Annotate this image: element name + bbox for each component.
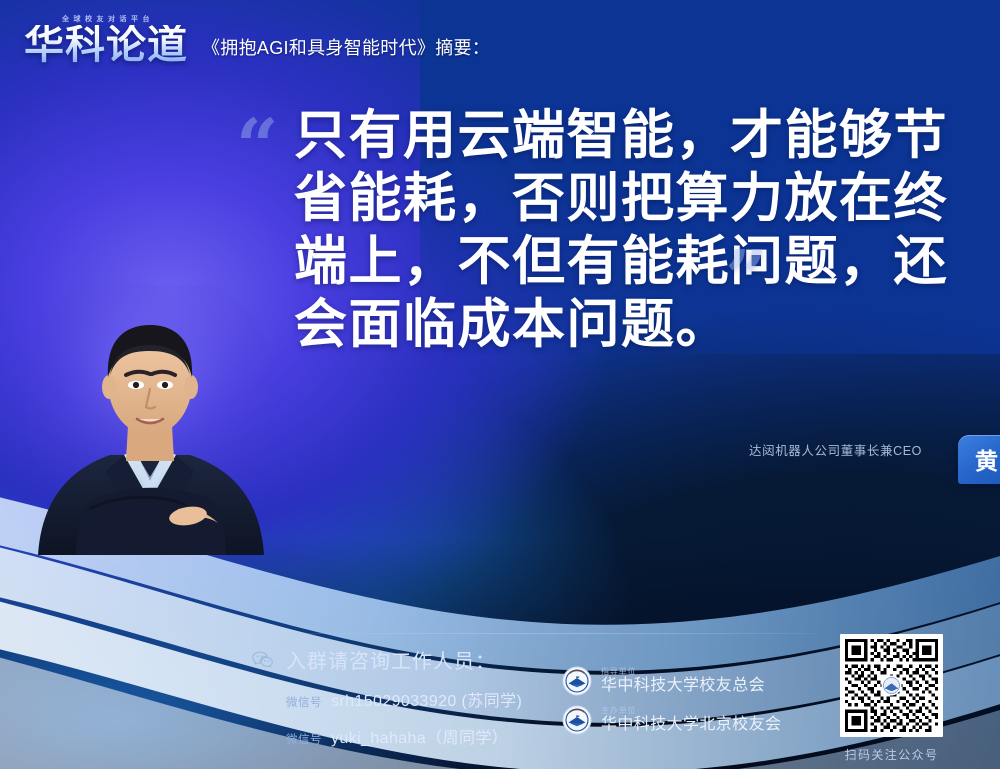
quote-line: 只有用云端智能，才能够节	[294, 104, 954, 167]
header: 全球校友对话平台 华科论道 《拥抱AGI和具身智能时代》摘要：	[24, 14, 490, 65]
organizer-kind: 主办单位	[601, 707, 781, 715]
header-subtitle: 《拥抱AGI和具身智能时代》摘要：	[202, 34, 490, 65]
contact-label: 微信号	[286, 694, 322, 710]
qr-section: 扫码关注公众号	[840, 634, 943, 763]
quote-lines: 只有用云端智能，才能够节 省能耗，否则把算力放在终 端上，不但有能耗问题，还 会…	[294, 104, 954, 356]
quote-line: 省能耗，否则把算力放在终	[294, 167, 954, 230]
contact-label: 微信号	[286, 731, 322, 747]
organizer-text: 主办单位 华中科技大学北京校友会	[601, 707, 781, 733]
contact-value[interactable]: yuki_hahaha（周同学）	[331, 724, 508, 748]
organizer-text: 指导单位 华中科技大学校友总会	[601, 668, 765, 694]
speaker-name-badge: 黄晓庆	[958, 435, 1000, 484]
footer-contact: 入群请咨询工作人员： 微信号 srh15029033920 (苏同学) 微信号 …	[252, 645, 522, 748]
footer-divider	[285, 633, 815, 634]
contact-row: 微信号 srh15029033920 (苏同学)	[286, 687, 522, 711]
hust-seal-icon	[562, 666, 592, 696]
organizer-row: 主办单位 华中科技大学北京校友会	[562, 705, 781, 735]
qr-caption: 扫码关注公众号	[840, 746, 943, 763]
organizer-name: 华中科技大学校友总会	[601, 678, 765, 694]
contact-value[interactable]: srh15029033920 (苏同学)	[331, 687, 522, 711]
attribution: 达闼机器人公司董事长兼CEO 黄晓庆	[749, 440, 922, 459]
footer-heading: 入群请咨询工作人员：	[252, 645, 522, 674]
hust-seal-icon	[562, 705, 592, 735]
qr-code[interactable]	[840, 634, 943, 737]
quote-line-text: 会面临成本问题。	[294, 294, 730, 355]
logo-title: 华科论道	[24, 25, 188, 65]
speaker-role: 达闼机器人公司董事长兼CEO	[749, 440, 922, 459]
footer-title: 入群请咨询工作人员：	[286, 645, 496, 674]
quote-line: 端上，不但有能耗问题，还	[294, 230, 954, 293]
quote-block: “ 只有用云端智能，才能够节 省能耗，否则把算力放在终 端上，不但有能耗问题，还…	[236, 104, 954, 356]
organizer-kind: 指导单位	[601, 668, 765, 676]
brand-logo[interactable]: 全球校友对话平台 华科论道	[24, 14, 188, 65]
wechat-icon	[252, 651, 274, 668]
organizer-list: 指导单位 华中科技大学校友总会 主办单位 华中科技大学北京校友会	[562, 666, 781, 744]
poster-canvas: 全球校友对话平台 华科论道 《拥抱AGI和具身智能时代》摘要：	[0, 0, 1000, 769]
contact-row: 微信号 yuki_hahaha（周同学）	[286, 724, 522, 748]
quote-open-mark: “	[236, 110, 275, 184]
quote-close-mark: ”	[725, 241, 764, 315]
organizer-row: 指导单位 华中科技大学校友总会	[562, 666, 781, 696]
organizer-name: 华中科技大学北京校友会	[601, 717, 781, 733]
quote-line: 会面临成本问题。 ”	[294, 293, 730, 356]
